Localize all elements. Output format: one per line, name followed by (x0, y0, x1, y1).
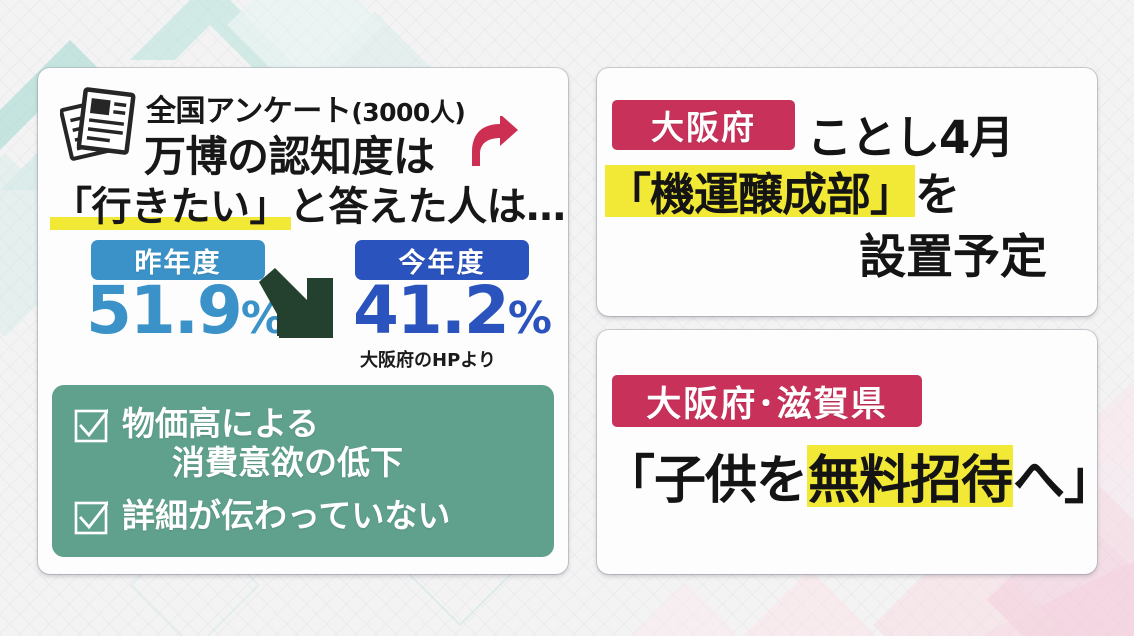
free-invite-panel: 大阪府･滋賀県 「子供を無料招待へ」 (597, 330, 1097, 574)
reason-1-line-2: 消費意欲の低下 (122, 444, 403, 483)
value-last-year-number: 51.9 (86, 272, 241, 349)
badge-osaka-prefecture: 大阪府 (612, 100, 795, 150)
plan-department-highlight: 「機運醸成部」 (605, 158, 915, 223)
plan-line-2-tail: を (915, 168, 959, 221)
quote-close: 」 (870, 168, 914, 221)
arrow-down-right-icon (255, 266, 339, 344)
survey-panel: 全国アンケート(3000人) 万博の認知度は 「行きたい」と答えた人は… 昨年度… (38, 68, 568, 574)
checkbox-checked-icon (74, 501, 108, 535)
reason-item-2-text: 詳細が伝わっていない (122, 497, 450, 536)
checkbox-checked-icon (74, 409, 108, 443)
plan-line-3: 設置予定 (859, 218, 1047, 287)
invite-line-open: 「子供を (603, 451, 807, 511)
reason-item-2: 詳細が伝わっていない (74, 497, 450, 536)
want-line: 「行きたい」と答えた人は… (52, 174, 566, 232)
quote-open: 「 (606, 168, 650, 221)
value-this-year-number: 41.2 (353, 272, 508, 349)
invite-line: 「子供を無料招待へ」 (603, 438, 1115, 513)
plan-department-name: 機運醸成部 (650, 168, 870, 221)
plan-line-1: ことし4月 (807, 101, 1013, 166)
want-rest: と答えた人は… (289, 184, 566, 230)
plan-line-2: 「機運醸成部」を (605, 158, 959, 223)
newspaper-icon (60, 84, 140, 164)
reason-2-line-1: 詳細が伝わっていない (122, 496, 450, 535)
want-quote-highlight: 「行きたい」 (52, 174, 289, 232)
osaka-plan-panel: 大阪府 ことし4月 「機運醸成部」を 設置予定 (597, 68, 1097, 316)
value-this-year-symbol: % (508, 293, 551, 344)
invite-line-tail: へ」 (1013, 451, 1115, 511)
badge-osaka-shiga: 大阪府･滋賀県 (612, 375, 922, 427)
value-this-year: 41.2% (353, 272, 551, 349)
reason-item-1: 物価高による 消費意欲の低下 (74, 405, 403, 482)
invite-highlight: 無料招待 (807, 438, 1013, 513)
reason-item-1-text: 物価高による 消費意欲の低下 (122, 405, 403, 482)
source-note: 大阪府のHPより (360, 346, 496, 372)
arrow-up-curved-icon (468, 116, 524, 168)
reasons-box: 物価高による 消費意欲の低下 詳細が伝わっていない (52, 385, 554, 557)
reason-1-line-1: 物価高による (122, 404, 319, 443)
